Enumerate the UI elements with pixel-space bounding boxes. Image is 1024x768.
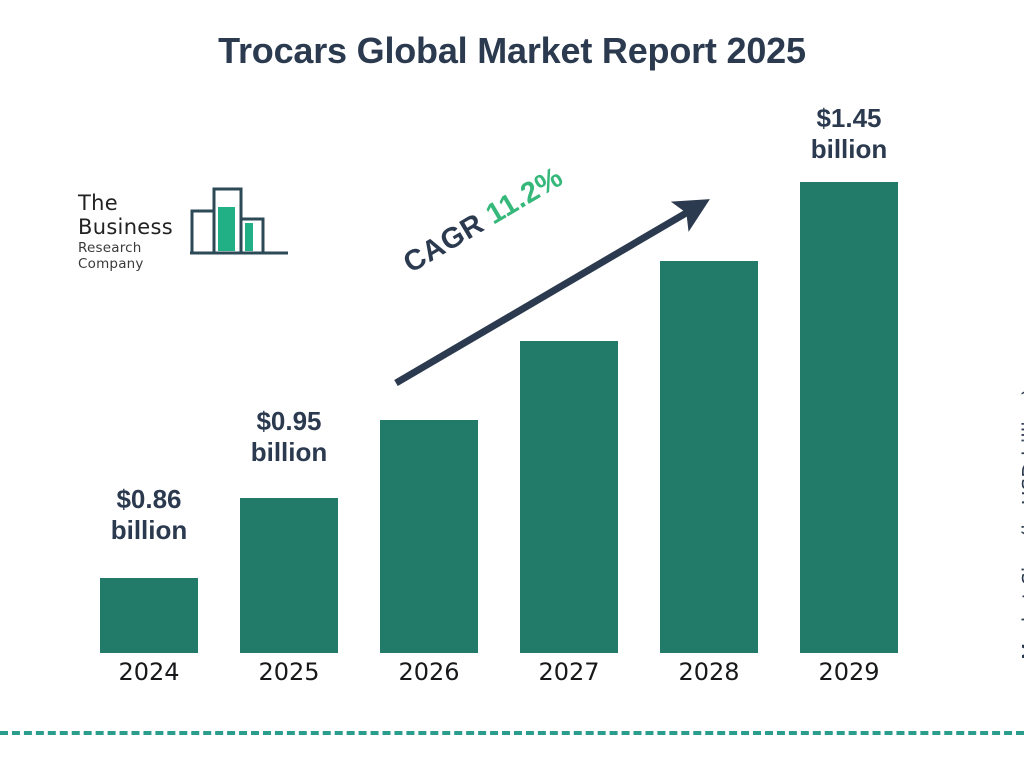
bar-value-unit-2025: billion (214, 437, 364, 468)
chart-canvas: Trocars Global Market Report 2025 The Bu… (0, 0, 1024, 768)
bar-value-amount-2025: $0.95 (214, 406, 364, 437)
cagr-label: CAGR (398, 208, 490, 280)
bar-2028 (660, 261, 758, 653)
bar-value-amount-2024: $0.86 (74, 484, 224, 515)
bar-2025 (240, 498, 338, 653)
bar-2024 (100, 578, 198, 653)
y-axis-title: Market Size (in USD billion) (1018, 330, 1024, 660)
plot-area: $0.86 billion $0.95 billion $1.45 billio… (0, 0, 1024, 768)
x-tick-2026: 2026 (380, 658, 478, 686)
bar-value-label-2024: $0.86 billion (74, 484, 224, 546)
bar-value-unit-2029: billion (774, 134, 924, 165)
bottom-divider (0, 731, 1024, 735)
bar-value-label-2025: $0.95 billion (214, 406, 364, 468)
cagr-annotation: CAGR 11.2% (398, 161, 569, 280)
bar-2029 (800, 182, 898, 653)
x-tick-2028: 2028 (660, 658, 758, 686)
x-tick-2024: 2024 (100, 658, 198, 686)
bar-value-label-2029: $1.45 billion (774, 103, 924, 165)
bar-2026 (380, 420, 478, 653)
bar-value-amount-2029: $1.45 (774, 103, 924, 134)
x-tick-2027: 2027 (520, 658, 618, 686)
cagr-value: 11.2% (481, 161, 569, 231)
x-tick-2025: 2025 (240, 658, 338, 686)
x-tick-2029: 2029 (800, 658, 898, 686)
bar-2027 (520, 341, 618, 653)
bar-value-unit-2024: billion (74, 515, 224, 546)
